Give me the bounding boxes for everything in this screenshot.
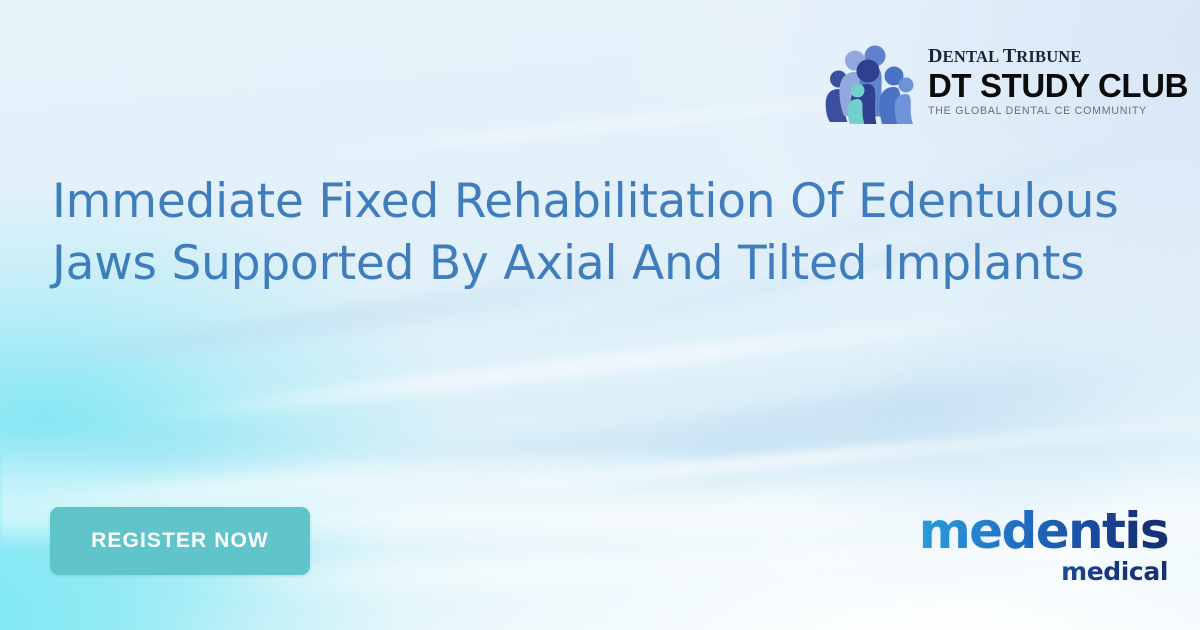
promo-banner: DENTAL TRIBUNE DT STUDY CLUB THE GLOBAL …	[0, 0, 1200, 630]
dt-study-club-wordmark: DENTAL TRIBUNE DT STUDY CLUB THE GLOBAL …	[928, 46, 1188, 117]
medentis-medical-logo[interactable]: medentis medical	[919, 506, 1168, 584]
banner-content: DENTAL TRIBUNE DT STUDY CLUB THE GLOBAL …	[0, 0, 1200, 630]
register-now-button[interactable]: REGISTER NOW	[50, 507, 310, 575]
dt-study-club-tagline: THE GLOBAL DENTAL CE COMMUNITY	[928, 106, 1188, 117]
dt-study-club-title: DT STUDY CLUB	[928, 69, 1188, 102]
dental-tribune-label: DENTAL TRIBUNE	[928, 46, 1188, 66]
page-title: Immediate Fixed Rehabilitation Of Edentu…	[52, 171, 1160, 295]
people-group-icon	[824, 38, 920, 124]
medentis-wordmark: medentis	[919, 506, 1168, 556]
medentis-subtitle-text: medical	[919, 559, 1168, 584]
dt-study-club-logo[interactable]: DENTAL TRIBUNE DT STUDY CLUB THE GLOBAL …	[824, 38, 1188, 124]
